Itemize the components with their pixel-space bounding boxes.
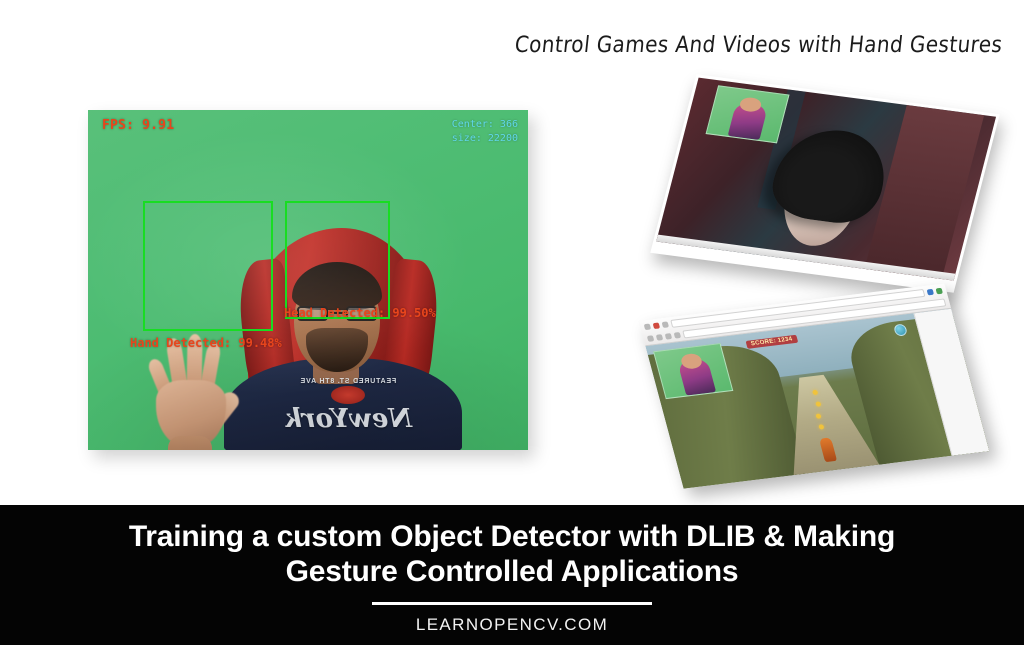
page-title: Control Games And Videos with Hand Gestu… bbox=[514, 31, 987, 58]
bounding-box-hand bbox=[143, 201, 273, 331]
stats-overlay: Center: 366 size: 22200 bbox=[452, 118, 518, 145]
fps-overlay-label: FPS: 9.91 bbox=[102, 118, 174, 133]
scene-wall bbox=[864, 105, 984, 279]
head-detection-label: Head Detected: 99.50% bbox=[284, 306, 436, 320]
banner-divider bbox=[372, 602, 652, 605]
webcam-scene: FEATURED ST. 8TH AVE NewYork FPS: 9.91 C… bbox=[88, 110, 528, 450]
hand-detection-label: Hand Detected: 99.48% bbox=[130, 336, 282, 350]
menu-icon[interactable] bbox=[935, 288, 943, 295]
bookmark-icon-4[interactable] bbox=[674, 332, 682, 339]
webcam-overlay-game bbox=[653, 343, 733, 400]
bookmark-icon-2[interactable] bbox=[656, 334, 664, 341]
game-coin bbox=[815, 401, 821, 406]
banner-title-line-1: Training a custom Object Detector with D… bbox=[129, 520, 895, 553]
anime-video-player-panel bbox=[650, 74, 1000, 292]
tshirt-main-text: NewYork bbox=[284, 404, 412, 434]
game-coin bbox=[815, 413, 821, 418]
browser-game-panel: SCORE: 1234 bbox=[639, 283, 990, 488]
stop-icon[interactable] bbox=[653, 322, 661, 329]
webcam-overlay-video bbox=[705, 85, 789, 144]
bottom-banner: Training a custom Object Detector with D… bbox=[0, 505, 1024, 645]
bounding-box-head bbox=[285, 201, 390, 319]
banner-title: Training a custom Object Detector with D… bbox=[129, 519, 895, 590]
webcam-detection-preview: FEATURED ST. 8TH AVE NewYork FPS: 9.91 C… bbox=[88, 110, 528, 450]
extension-icon[interactable] bbox=[927, 289, 935, 296]
stats-center-label: Center: 366 bbox=[452, 118, 518, 132]
banner-title-line-2: Gesture Controlled Applications bbox=[286, 555, 739, 588]
bookmark-icon-1[interactable] bbox=[647, 335, 655, 342]
hand-wrist bbox=[168, 436, 212, 450]
banner-website-label: LEARNOPENCV.COM bbox=[416, 615, 608, 635]
stats-size-label: size: 22200 bbox=[452, 132, 518, 146]
tshirt-badge bbox=[331, 386, 365, 404]
video-screen bbox=[656, 78, 996, 281]
tshirt-arc-text: FEATURED ST. 8TH AVE bbox=[284, 378, 412, 385]
reload-icon[interactable] bbox=[662, 321, 670, 328]
back-icon[interactable] bbox=[644, 324, 652, 331]
bookmark-icon-3[interactable] bbox=[665, 333, 673, 340]
tshirt-graphic: FEATURED ST. 8TH AVE NewYork bbox=[284, 378, 412, 450]
